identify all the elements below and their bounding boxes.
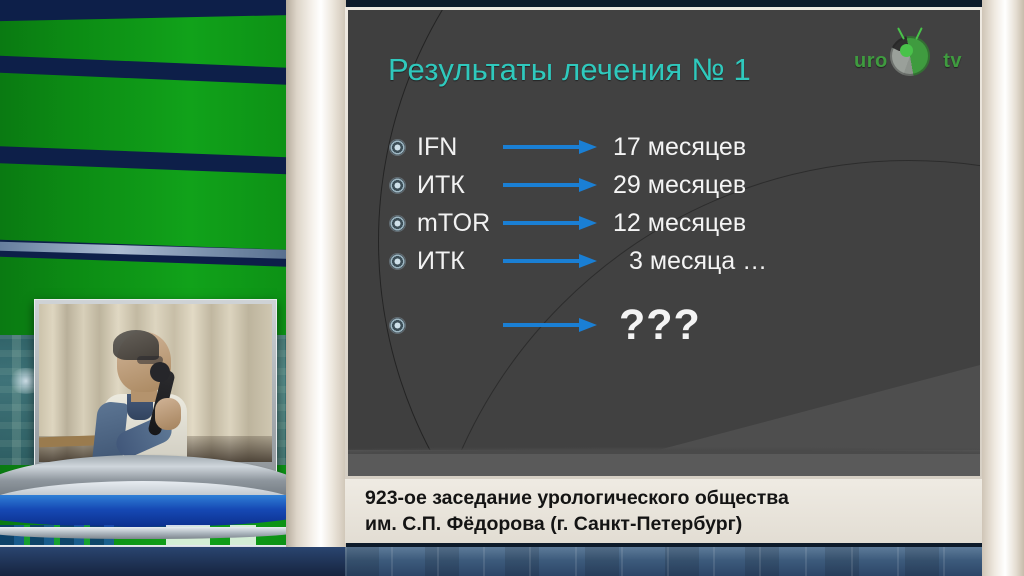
row-label: ИТК [417,171,503,200]
microphone-head [150,362,170,382]
right-arrow-icon [503,140,599,154]
logo-dot-icon [900,44,913,57]
speaker-hand [155,398,181,430]
right-arrow-icon [503,178,599,192]
right-arrow-icon [503,254,599,268]
logo-text-tv: tv [943,50,962,73]
studio-column-right [982,0,1024,576]
broadcast-frame: Результаты лечения № 1 uro tv IFN 17 мес… [0,0,1024,576]
studio-band [0,0,320,22]
caption-line-2: им. С.П. Фёдорова (г. Санкт-Петербург) [365,511,983,537]
bullet-icon [390,254,405,269]
list-item: mTOR 12 месяцев [390,204,950,242]
bottom-strip-left [0,547,345,576]
studio-band [0,145,320,175]
row-label: mTOR [417,209,503,238]
slide-bullet-list: IFN 17 месяцев ИТК 29 месяцев mTOR 12 ме… [390,128,950,344]
logo-globe-icon [890,36,930,76]
slide-bottom-band [348,450,980,476]
right-arrow-icon [503,216,599,230]
pip-monitor [34,299,277,481]
urotv-logo: uro tv [854,28,962,82]
pip-screen [39,304,272,462]
studio-column-left [286,0,346,576]
lower-third-caption: 923-ое заседание урологического общества… [345,479,983,543]
desk-blue-band [0,495,300,527]
presentation-slide-frame: Результаты лечения № 1 uro tv IFN 17 мес… [345,7,983,479]
row-value: 12 месяцев [607,209,950,238]
row-value: 29 месяцев [607,171,950,200]
row-value: 17 месяцев [607,133,950,162]
list-item: IFN 17 месяцев [390,128,950,166]
row-value: ??? [607,301,950,350]
presentation-slide: Результаты лечения № 1 uro tv IFN 17 мес… [348,10,980,476]
speaker-figure [93,332,201,462]
bullet-icon [390,140,405,155]
list-item: ИТК 3 месяца … [390,242,950,280]
logo-text-uro: uro [854,50,888,73]
bullet-icon [390,318,405,333]
row-value: 3 месяца … [607,247,950,276]
caption-line-1: 923-ое заседание урологического общества [365,485,983,511]
bullet-icon [390,178,405,193]
right-arrow-icon [503,318,599,332]
slide-title: Результаты лечения № 1 [388,52,751,88]
list-item: ??? [390,306,950,344]
bullet-icon [390,216,405,231]
row-label: IFN [417,133,503,162]
row-label: ИТК [417,247,503,276]
bottom-strip [345,547,983,576]
list-item: ИТК 29 месяцев [390,166,950,204]
studio-band [0,55,320,86]
